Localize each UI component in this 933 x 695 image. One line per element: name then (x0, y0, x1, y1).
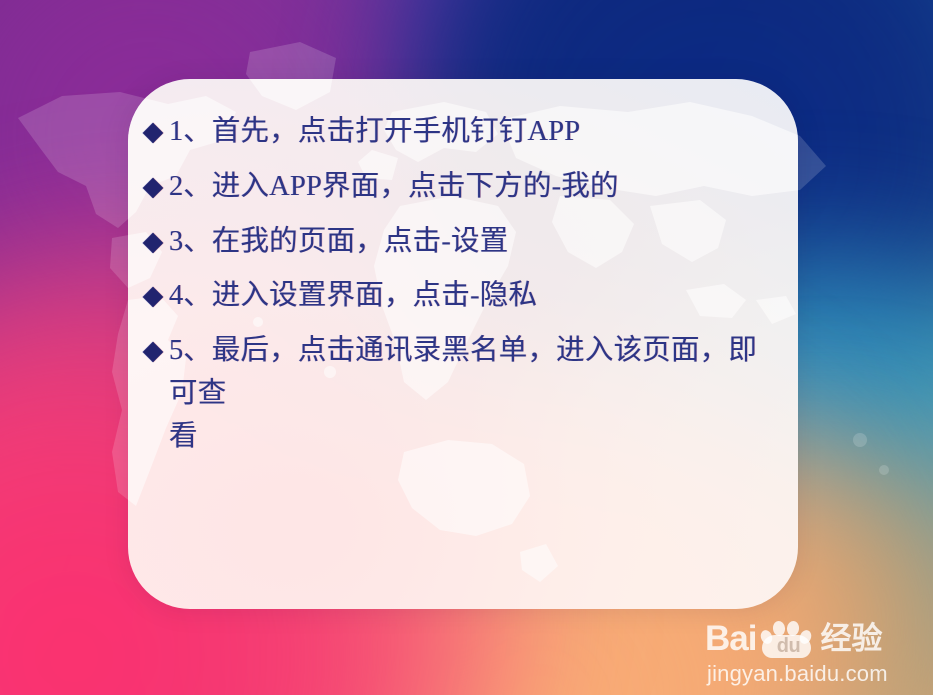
list-item: ◆ 1、首先，点击打开手机钉钉APP (138, 111, 780, 154)
list-item: ◆ 4、进入设置界面，点击-隐私 (138, 275, 780, 318)
step-body-5: 最后，点击通讯录黑名单，进入该页面，即可查 (169, 335, 757, 409)
diamond-bullet-icon: ◆ (138, 282, 168, 309)
step-text-1: 1、首先，点击打开手机钉钉APP (169, 111, 780, 154)
diamond-bullet-icon: ◆ (138, 173, 168, 200)
step-body-4: 进入设置界面，点击-隐私 (212, 280, 537, 311)
steps-list: ◆ 1、首先，点击打开手机钉钉APP ◆ 2、进入APP界面，点击下方的-我的 … (138, 111, 780, 470)
slide-canvas: ◆ 1、首先，点击打开手机钉钉APP ◆ 2、进入APP界面，点击下方的-我的 … (0, 0, 933, 695)
diamond-bullet-icon: ◆ (138, 337, 168, 364)
list-item: ◆ 5、最后，点击通讯录黑名单，进入该页面，即可查看 (138, 330, 780, 458)
list-item: ◆ 3、在我的页面，点击-设置 (138, 221, 780, 264)
step-body-5-continuation: 看 (169, 416, 780, 459)
step-body-2: 进入APP界面，点击下方的-我的 (212, 171, 619, 202)
content-card: ◆ 1、首先，点击打开手机钉钉APP ◆ 2、进入APP界面，点击下方的-我的 … (128, 79, 798, 609)
step-number-2: 2、 (169, 171, 212, 202)
step-text-3: 3、在我的页面，点击-设置 (169, 221, 780, 264)
step-body-3: 在我的页面，点击-设置 (212, 226, 509, 257)
step-number-5: 5、 (169, 335, 212, 366)
step-number-4: 4、 (169, 280, 212, 311)
diamond-bullet-icon: ◆ (138, 228, 168, 255)
step-number-1: 1、 (169, 116, 212, 147)
list-item: ◆ 2、进入APP界面，点击下方的-我的 (138, 166, 780, 209)
step-number-3: 3、 (169, 226, 212, 257)
step-text-5: 5、最后，点击通讯录黑名单，进入该页面，即可查看 (169, 330, 780, 458)
diamond-bullet-icon: ◆ (138, 118, 168, 145)
step-text-2: 2、进入APP界面，点击下方的-我的 (169, 166, 780, 209)
step-text-4: 4、进入设置界面，点击-隐私 (169, 275, 780, 318)
step-body-1: 首先，点击打开手机钉钉APP (212, 116, 581, 147)
